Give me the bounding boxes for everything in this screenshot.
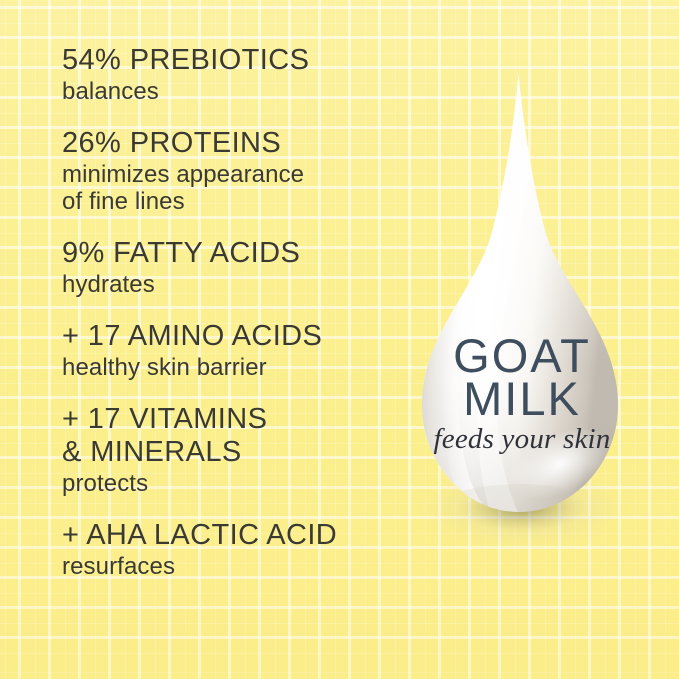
droplet-graphic: GOAT MILK feeds your skin [382,60,662,550]
benefit-item: + 17 AMINO ACIDS healthy skin barrier [62,320,392,381]
benefit-item: + 17 VITAMINS & MINERALS protects [62,403,392,497]
goat-milk-benefits-infographic: 54% PREBIOTICS balances 26% PROTEINS min… [0,0,679,679]
benefit-description: protects [62,470,392,497]
benefit-title: 9% FATTY ACIDS [62,237,392,270]
benefit-item: + AHA LACTIC ACID resurfaces [62,519,392,580]
benefit-title: + 17 AMINO ACIDS [62,320,392,353]
benefit-description: resurfaces [62,553,392,580]
benefit-description: hydrates [62,271,392,298]
benefit-item: 26% PROTEINS minimizes appearance of fin… [62,127,392,215]
benefit-description: balances [62,78,392,105]
benefit-title: 26% PROTEINS [62,127,392,160]
benefits-list: 54% PREBIOTICS balances 26% PROTEINS min… [62,44,392,580]
droplet-shading-group [382,60,662,560]
benefit-title: + 17 VITAMINS & MINERALS [62,403,392,469]
benefit-description: healthy skin barrier [62,354,392,381]
benefit-item: 54% PREBIOTICS balances [62,44,392,105]
benefit-title: 54% PREBIOTICS [62,44,392,77]
benefit-title: + AHA LACTIC ACID [62,519,392,552]
milk-droplet-icon [382,60,662,550]
benefit-description: minimizes appearance of fine lines [62,161,392,215]
benefit-item: 9% FATTY ACIDS hydrates [62,237,392,298]
